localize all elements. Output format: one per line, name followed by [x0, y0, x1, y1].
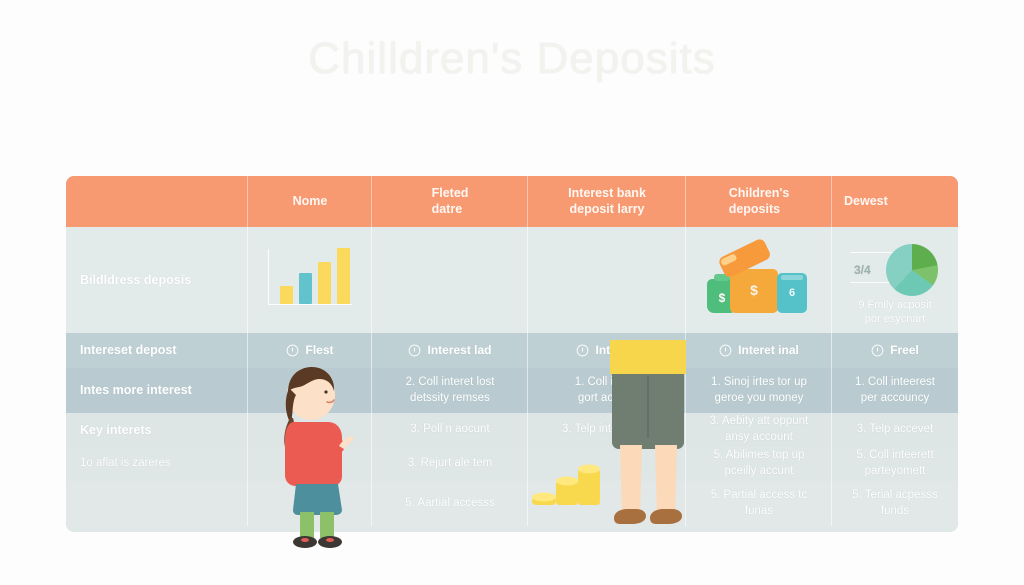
info-circle-icon: [871, 344, 884, 357]
info-label: Flest: [305, 342, 333, 358]
info-label: Freel: [890, 342, 919, 358]
empty-cell: [372, 227, 528, 333]
pie-graphic: [886, 244, 938, 296]
chart-bars: [280, 248, 350, 304]
table-row: Bildldress deposis $: [66, 227, 958, 333]
money-illustration: $ $ 6: [705, 245, 813, 315]
table-header-cell-0: [66, 176, 248, 227]
pie-caption: 9 Fmily acposit por esycnart: [846, 298, 944, 327]
row-cell: 3. Rejurt ale tem: [372, 447, 528, 481]
info-label: Interet inal: [738, 342, 799, 358]
row-label: Intereset depost: [66, 333, 248, 368]
info-cell[interactable]: Interet inal: [686, 333, 832, 368]
money-icons-cell: $ $ 6: [686, 227, 832, 333]
row-label: Key interets: [66, 413, 248, 447]
bar: [318, 262, 331, 304]
table-header-cell-4: Children's deposits: [686, 176, 832, 227]
wallet-symbol: $: [730, 281, 778, 300]
pie-chart-cell: 3/4 9 Fmily acposit por esycnart: [832, 227, 958, 333]
table-header-cell-3: Interest bank deposit larry: [528, 176, 686, 227]
adult-illustration: [600, 340, 696, 552]
bar-chart-cell: [248, 227, 372, 333]
row-cell: 5. Terial acpesss funds: [832, 481, 958, 526]
row-cell: 3. Poll n aocunt: [372, 413, 528, 447]
bar: [280, 286, 293, 304]
row-label: Bildldress deposis: [66, 227, 248, 333]
row-cell: 5. Partial access tc funas: [686, 481, 832, 526]
row-label: [66, 481, 248, 526]
page-title: Chilldren's Deposits: [0, 34, 1024, 84]
pie-annotation: 3/4: [854, 262, 871, 278]
info-cell[interactable]: Interest lad: [372, 333, 528, 368]
table-header-row: Nome Fleted datre Interest bank deposit …: [66, 176, 958, 227]
wallet-icon: $: [730, 269, 778, 313]
slide-canvas: Chilldren's Deposits Nome Fleted datre I…: [0, 0, 1024, 585]
info-cell[interactable]: Freel: [832, 333, 958, 368]
table-row: Key interets 3. Poll n aocunt 3. Telp in…: [66, 413, 958, 447]
card-stripe: [781, 275, 803, 280]
table-row: Intereset depost Flest Interest lad Inte…: [66, 333, 958, 368]
row-cell: 2. Coll interet lost detssity remses: [372, 368, 528, 413]
bar: [337, 248, 350, 304]
comparison-table: Nome Fleted datre Interest bank deposit …: [66, 176, 958, 532]
row-cell: 3. Aebity att oppunt ansy account: [686, 413, 832, 447]
girl-illustration: [270, 362, 362, 550]
table-row: 5. Aartial accesss 5. Partial access tc …: [66, 481, 958, 526]
table-header-cell-5: Dewest: [832, 176, 958, 227]
empty-cell: [528, 227, 686, 333]
chart-y-axis: [268, 249, 269, 305]
info-circle-icon: [576, 344, 589, 357]
table-header-cell-1: Nome: [248, 176, 372, 227]
info-circle-icon: [408, 344, 421, 357]
table-row: Intes more interest 2. Coll interet lost…: [66, 368, 958, 413]
info-label: Interest lad: [427, 342, 491, 358]
row-cell: 1. Coll inteerest per accouncy: [832, 368, 958, 413]
pie-chart: 3/4 9 Fmily acposit por esycnart: [846, 242, 944, 318]
row-cell: 5. Coll inteerett parteyomett: [832, 447, 958, 481]
row-label: Intes more interest: [66, 368, 248, 413]
bar: [299, 273, 312, 304]
info-circle-icon: [719, 344, 732, 357]
card-symbol: 6: [777, 286, 807, 301]
row-label: 1o aflat is zareres: [66, 447, 248, 481]
bank-card-icon: 6: [777, 273, 807, 313]
coin-stack-illustration: [528, 455, 606, 511]
row-cell: 5. Abilimes top up pceilly accunt: [686, 447, 832, 481]
bar-chart: [268, 249, 352, 311]
row-cell: 3. Telp accevet: [832, 413, 958, 447]
table-header-cell-2: Fleted datre: [372, 176, 528, 227]
row-cell: 1. Sinoj irtes tor up geroe you money: [686, 368, 832, 413]
table-row: 1o aflat is zareres 3. Rejurt ale tem 5.…: [66, 447, 958, 481]
info-circle-icon: [286, 344, 299, 357]
row-cell: 5. Aartial accesss: [372, 481, 528, 526]
